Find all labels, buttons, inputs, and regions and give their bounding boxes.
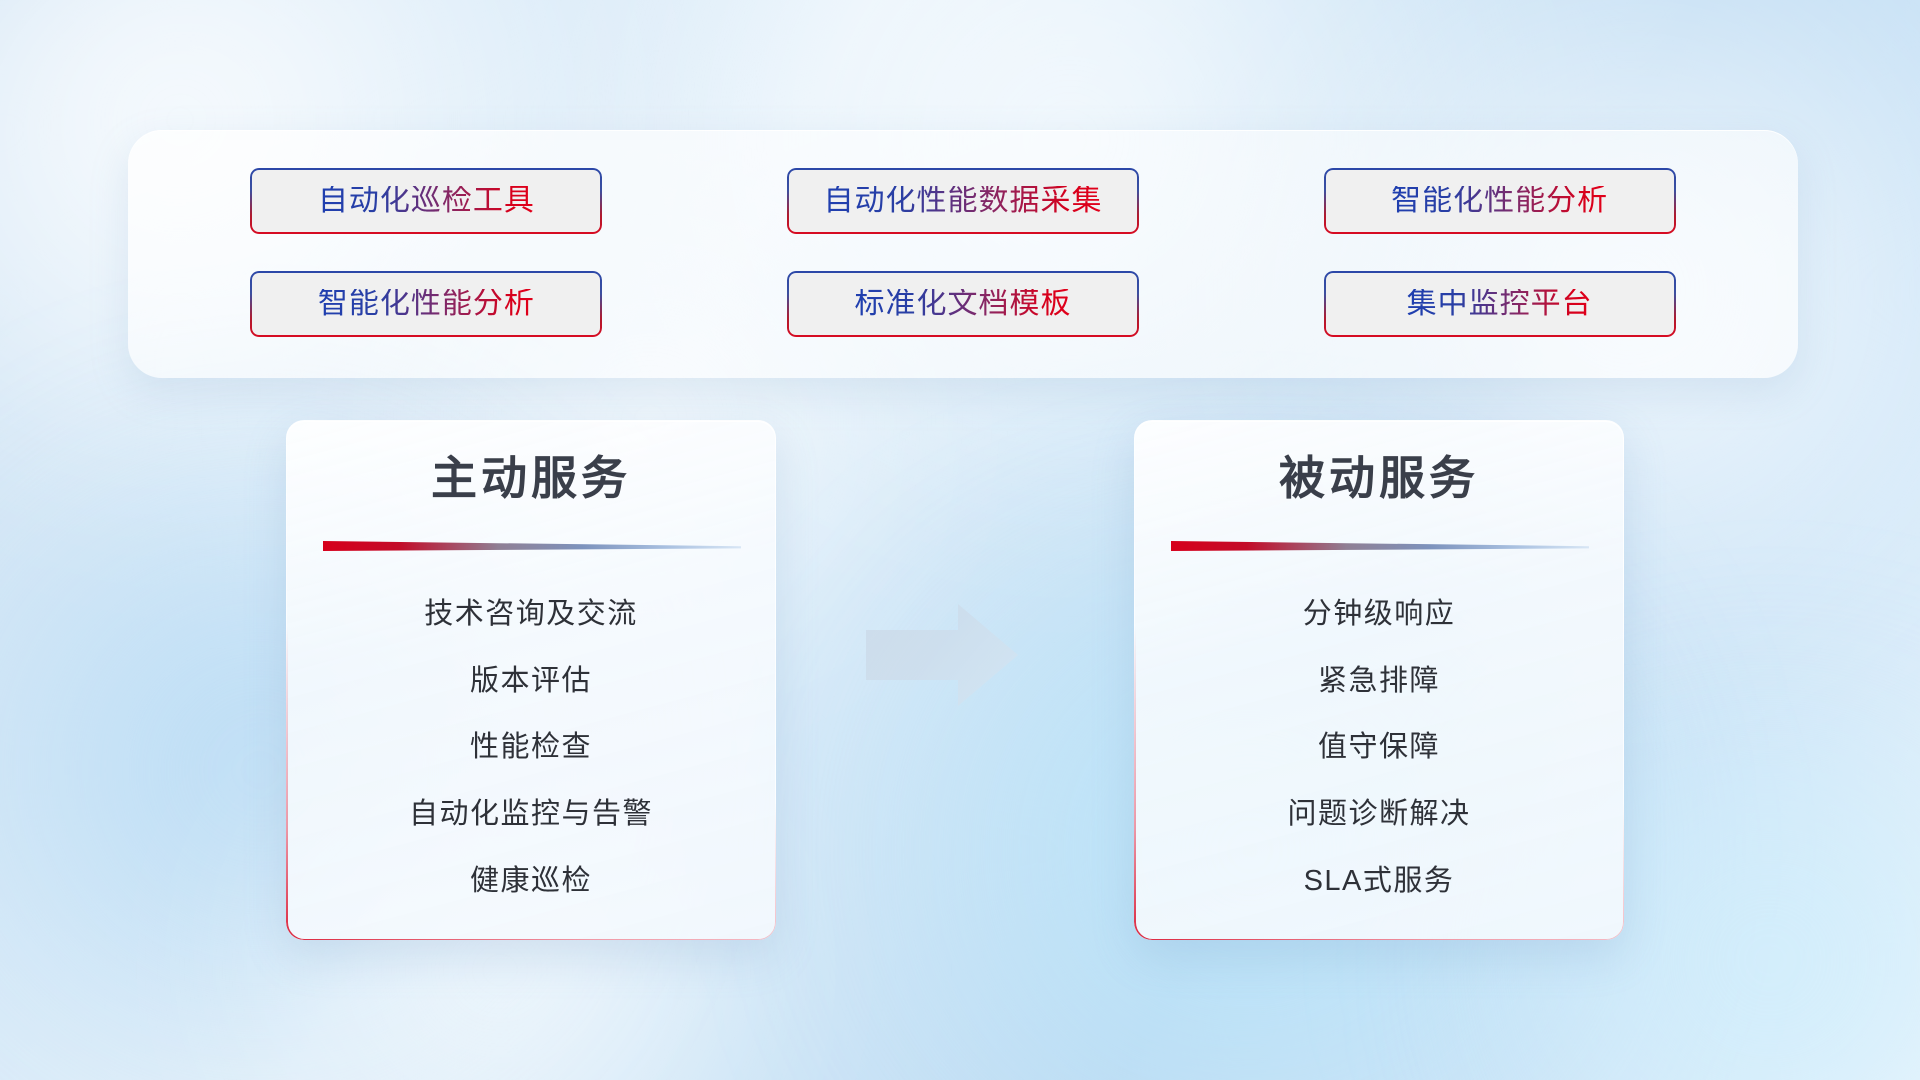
capability-pill-3[interactable]: 智能化性能分析 bbox=[1324, 168, 1676, 234]
capability-grid: 自动化巡检工具 自动化性能数据采集 智能化性能分析 智能化性能分析 标准化文档模… bbox=[128, 130, 1798, 378]
card-divider-wedge bbox=[1171, 539, 1589, 553]
capability-pill-4[interactable]: 智能化性能分析 bbox=[250, 271, 602, 337]
service-card-passive: 被动服务 分钟级响应 紧急排障 值守保障 问题诊断解决 SLA式服务 bbox=[1134, 420, 1624, 940]
capability-pill-label: 集中监控平台 bbox=[1407, 289, 1593, 319]
card-item-list: 分钟级响应 紧急排障 值守保障 问题诊断解决 SLA式服务 bbox=[1135, 581, 1623, 915]
capability-pill-2[interactable]: 自动化性能数据采集 bbox=[787, 168, 1139, 234]
service-card-active: 主动服务 技术咨询及交流 版本评估 性能检查 自动化监控与告警 健康巡检 bbox=[286, 420, 776, 940]
list-item: 性能检查 bbox=[470, 715, 592, 782]
list-item: 技术咨询及交流 bbox=[424, 581, 638, 648]
capability-pill-label: 标准化文档模板 bbox=[854, 289, 1071, 319]
card-item-list: 技术咨询及交流 版本评估 性能检查 自动化监控与告警 健康巡检 bbox=[287, 581, 775, 915]
list-item: SLA式服务 bbox=[1304, 848, 1455, 915]
card-title: 被动服务 bbox=[1135, 451, 1623, 506]
capability-pill-5[interactable]: 标准化文档模板 bbox=[787, 271, 1139, 337]
capability-pill-label: 自动化巡检工具 bbox=[318, 186, 535, 216]
list-item: 紧急排障 bbox=[1318, 648, 1440, 715]
arrow-right-icon bbox=[862, 600, 1022, 710]
card-divider-wedge bbox=[323, 539, 741, 553]
capability-pill-label: 智能化性能分析 bbox=[1391, 186, 1608, 216]
list-item: 自动化监控与告警 bbox=[409, 781, 653, 848]
list-item: 问题诊断解决 bbox=[1287, 781, 1470, 848]
list-item: 值守保障 bbox=[1318, 715, 1440, 782]
list-item: 健康巡检 bbox=[470, 848, 592, 915]
capability-panel: 自动化巡检工具 自动化性能数据采集 智能化性能分析 智能化性能分析 标准化文档模… bbox=[128, 130, 1798, 378]
list-item: 版本评估 bbox=[470, 648, 592, 715]
card-title: 主动服务 bbox=[287, 451, 775, 506]
capability-pill-label: 自动化性能数据采集 bbox=[823, 186, 1102, 216]
list-item: 分钟级响应 bbox=[1303, 581, 1456, 648]
capability-pill-label: 智能化性能分析 bbox=[318, 289, 535, 319]
capability-pill-1[interactable]: 自动化巡检工具 bbox=[250, 168, 602, 234]
capability-pill-6[interactable]: 集中监控平台 bbox=[1324, 271, 1676, 337]
